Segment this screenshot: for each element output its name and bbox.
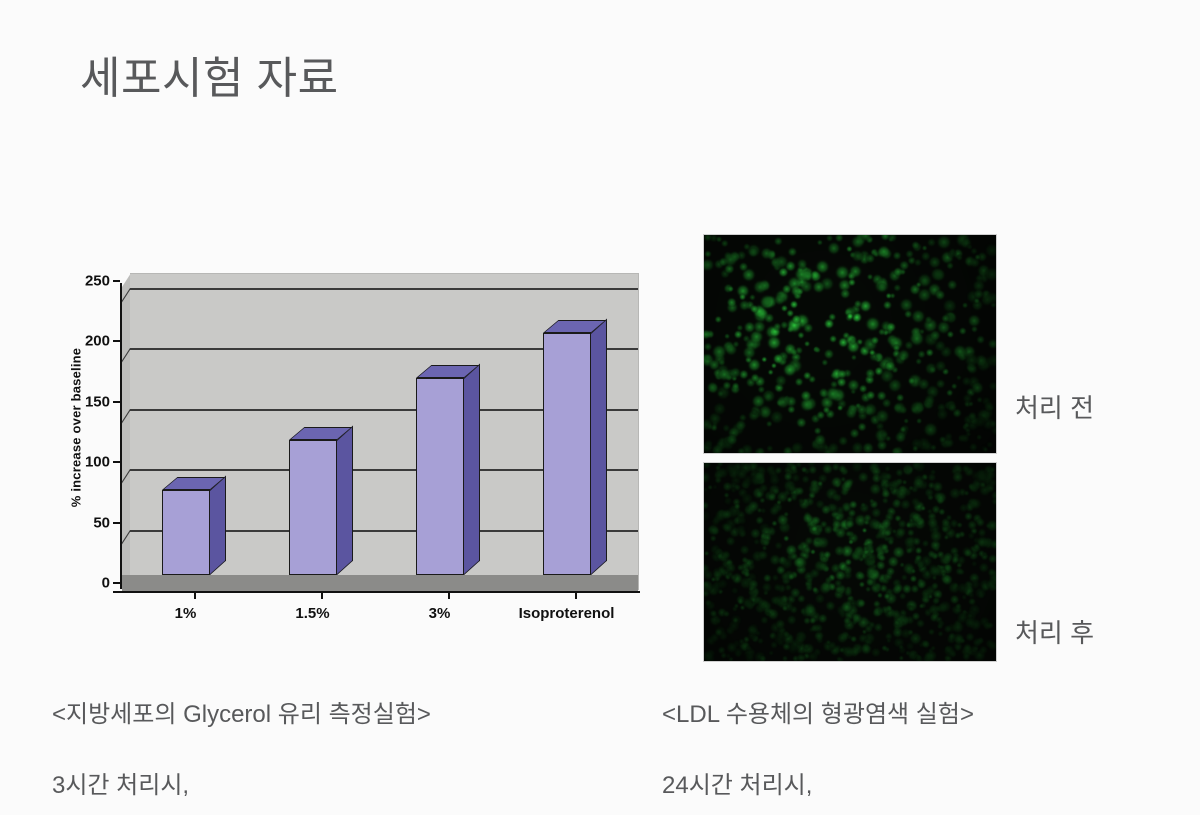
bar <box>416 364 480 575</box>
category-axis-tick <box>575 591 577 599</box>
category-axis-tick <box>448 591 450 599</box>
bar-front-face <box>162 490 210 575</box>
fluorescence-micrograph-before <box>703 234 997 454</box>
category-axis-label: 3% <box>429 605 451 622</box>
y-axis-tick-mark <box>113 340 120 342</box>
bar <box>289 426 353 575</box>
micrograph-before-label: 처리 전 <box>1015 388 1094 425</box>
bar-side-face <box>464 364 480 575</box>
bar <box>543 319 607 575</box>
category-axis-tick <box>321 591 323 599</box>
category-axis-line <box>113 591 640 593</box>
page-title: 세포시험 자료 <box>80 42 339 106</box>
y-axis-tick-label: 100 <box>85 454 110 471</box>
y-axis-tick-label: 250 <box>85 273 110 290</box>
y-axis-tick-mark <box>113 461 120 463</box>
bar-front-face <box>543 333 591 575</box>
bar-front-face <box>416 378 464 575</box>
caption-left-title: <지방세포의 Glycerol 유리 측정실험> <box>52 694 431 729</box>
y-axis-tick-label: 200 <box>85 333 110 350</box>
category-axis-label: 1.5% <box>295 605 329 622</box>
y-axis-tick-mark <box>113 522 120 524</box>
bar-group <box>130 273 638 591</box>
y-axis-ticks: 050100150200250 <box>74 265 114 605</box>
category-axis-label: 1% <box>175 605 197 622</box>
caption-right-title: <LDL 수용체의 형광염색 실험> <box>662 694 974 729</box>
cell-field-after <box>704 463 996 661</box>
bar-front-face <box>289 440 337 575</box>
category-axis-tick <box>194 591 196 599</box>
value-axis-line <box>120 283 122 589</box>
y-axis-tick-mark <box>113 280 120 282</box>
bar-side-face <box>210 476 226 575</box>
micrograph-after-label: 처리 후 <box>1015 613 1094 650</box>
bar-side-face <box>337 425 353 575</box>
category-axis-label: Isoproterenol <box>519 605 615 622</box>
y-axis-tick-label: 0 <box>102 575 110 592</box>
y-axis-tick-mark <box>113 401 120 403</box>
fluorescence-micrograph-after <box>703 462 997 662</box>
caption-left-note: 3시간 처리시, <box>52 765 189 800</box>
bar-side-face <box>591 319 607 575</box>
caption-right-note: 24시간 처리시, <box>662 765 812 800</box>
y-axis-tick-label: 50 <box>93 514 110 531</box>
y-axis-tick-mark <box>113 582 120 584</box>
cell-field-before <box>704 235 996 453</box>
bar <box>162 476 226 575</box>
bar-chart: % increase over baseline 050100150200250… <box>38 265 638 650</box>
y-axis-tick-label: 150 <box>85 393 110 410</box>
